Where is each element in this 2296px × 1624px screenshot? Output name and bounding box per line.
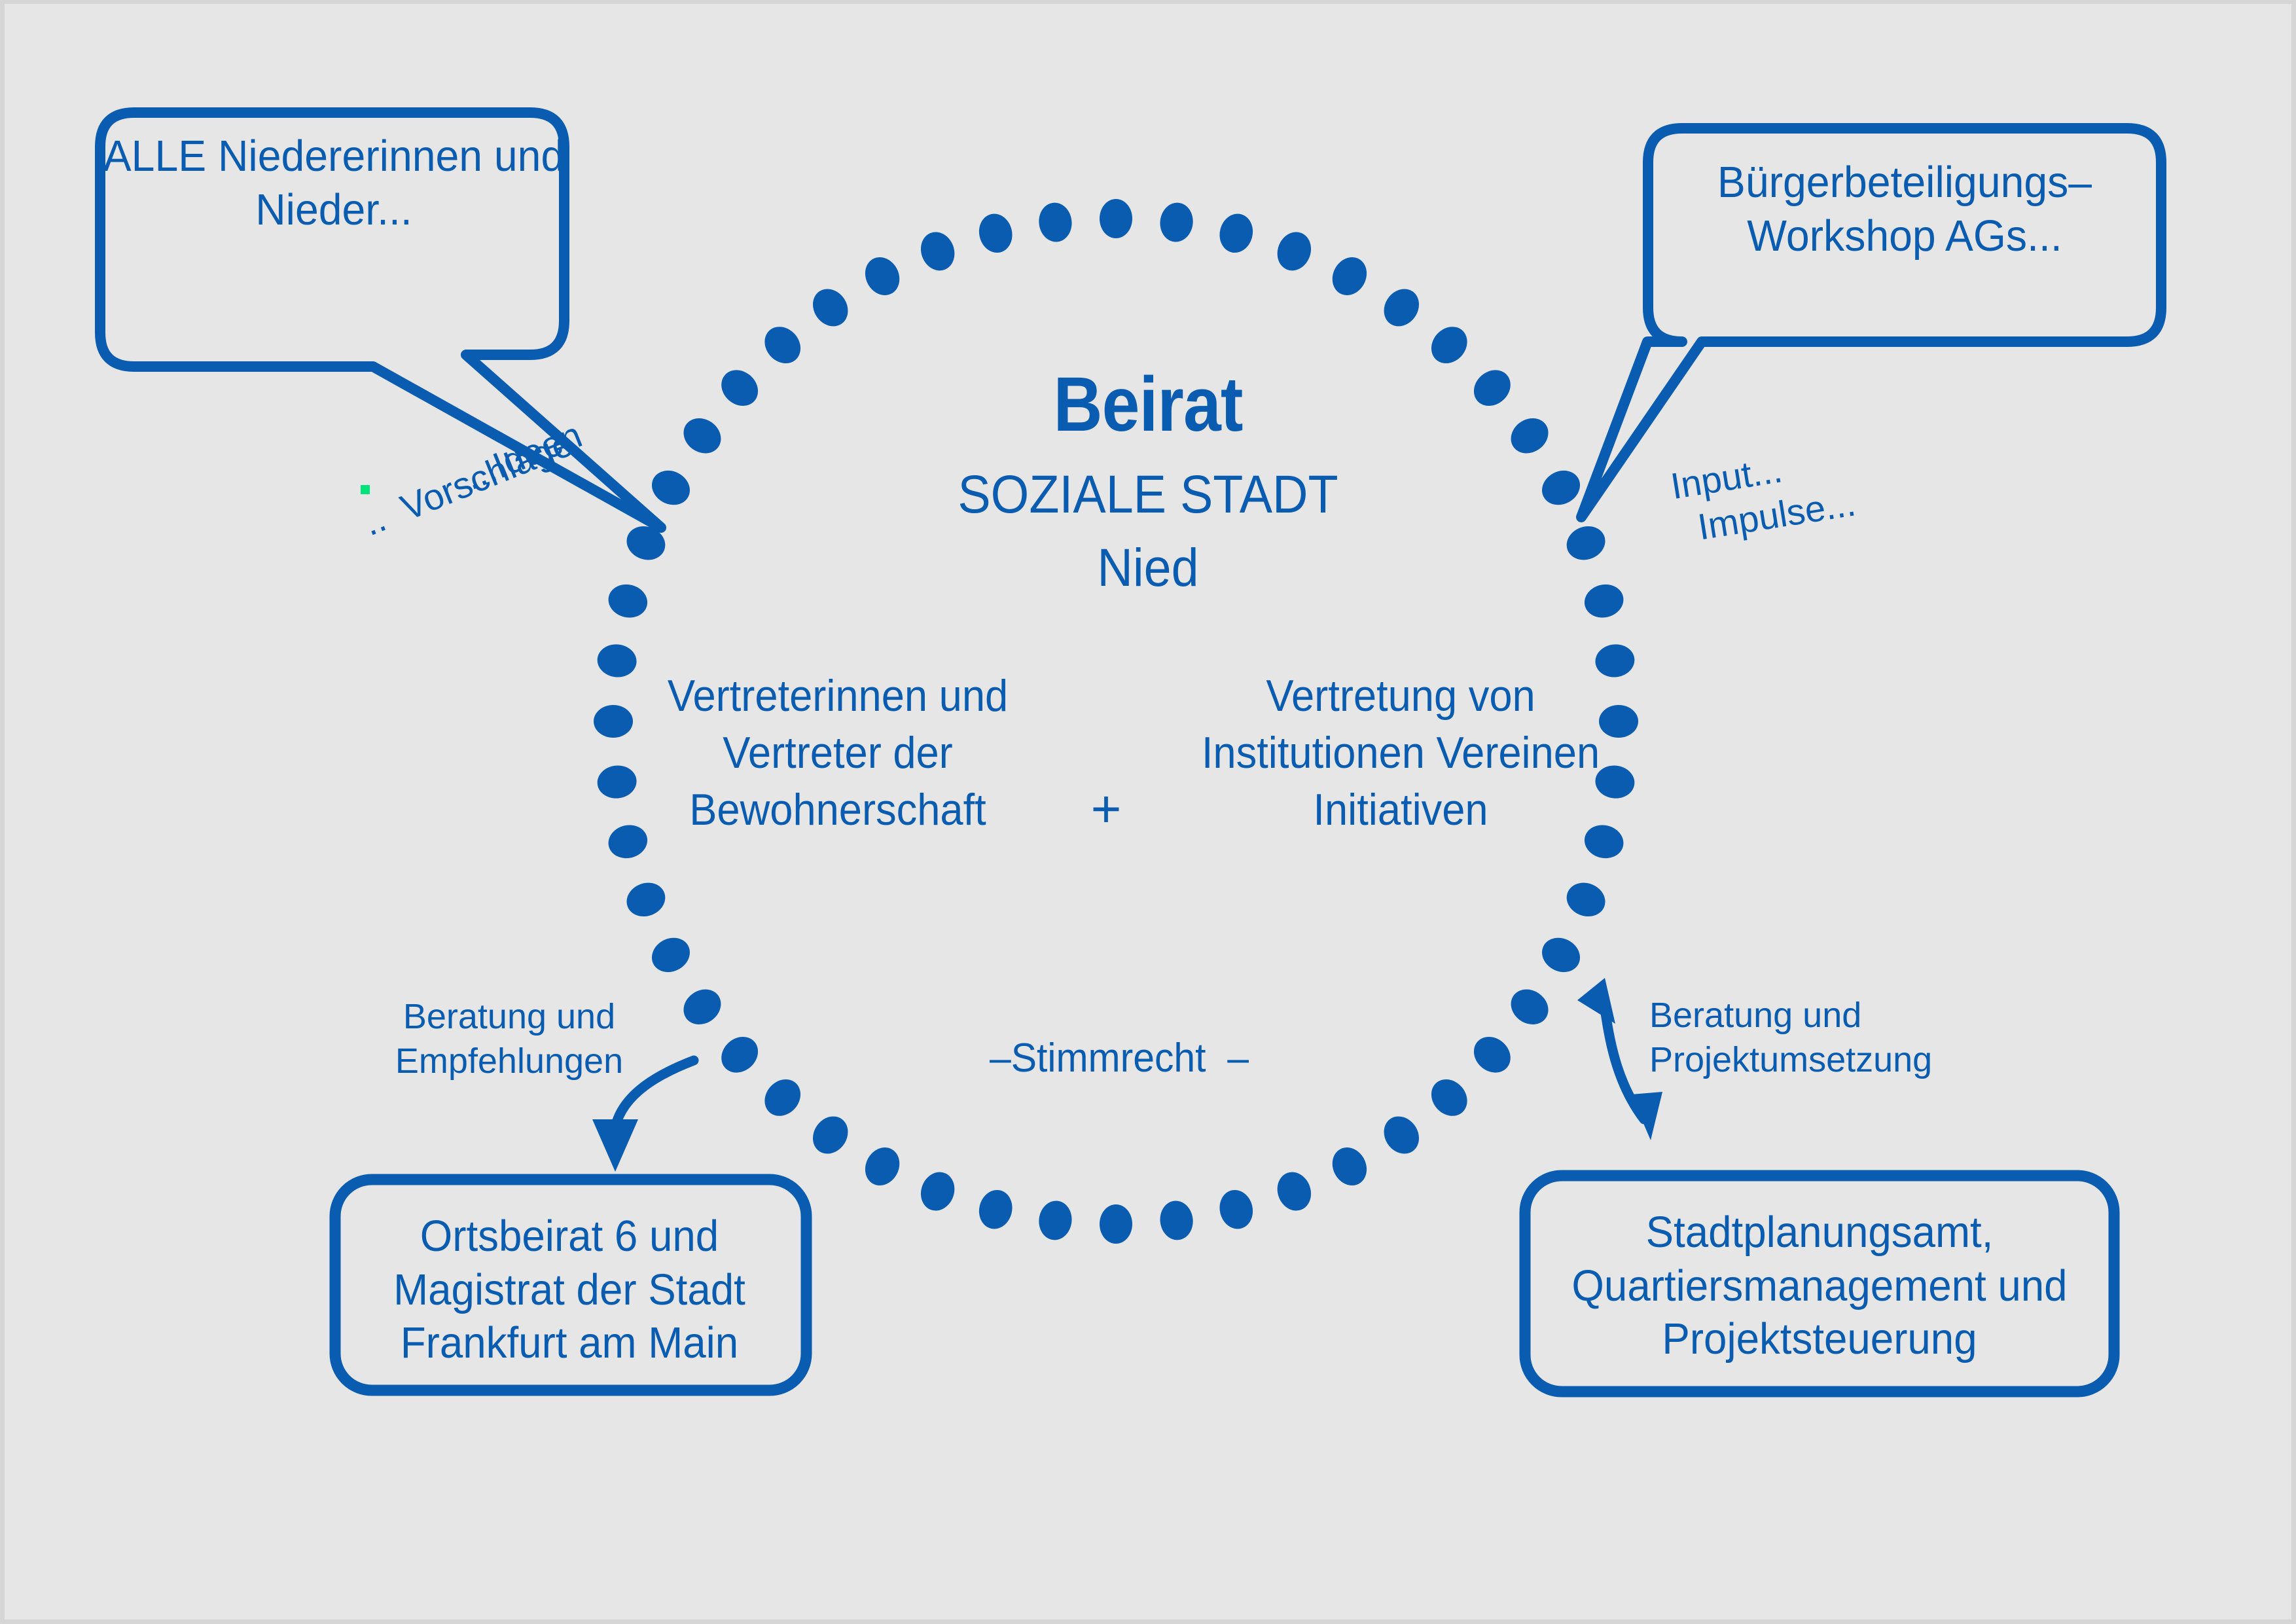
ring-dot xyxy=(1424,1072,1475,1123)
ring-dot xyxy=(1215,210,1257,256)
ring-dot xyxy=(1100,1204,1132,1244)
center-left-column: Vertreterinnen und Vertreter der Bewohne… xyxy=(607,668,1069,839)
ring-dot xyxy=(646,931,696,979)
ring-dot xyxy=(622,877,670,922)
ring-dot xyxy=(714,1030,765,1080)
ring-dot xyxy=(1272,227,1316,276)
ring-dot xyxy=(1377,282,1426,333)
ring-dot xyxy=(806,282,855,333)
ring-dot xyxy=(1562,877,1610,922)
ring-dot xyxy=(1326,251,1373,301)
ring-dot xyxy=(975,1187,1016,1233)
subtitle-line-2: Nied xyxy=(92,538,2204,598)
speech-bubble-top-right-label: Bürgerbeteiligungs– Workshop AGs... xyxy=(1672,156,2137,262)
speech-bubble-top-left-label: ALLE Niedererinnen und Nieder... xyxy=(101,130,566,236)
ring-dot xyxy=(1326,1142,1373,1191)
box-bottom-right-label: Stadtplanungsamt, Quartiersmanagement un… xyxy=(1552,1206,2087,1366)
ring-dot xyxy=(1215,1187,1257,1233)
center-right-column: Vertretung von Institutionen Vereinen In… xyxy=(1188,668,1614,839)
ring-dot xyxy=(916,1167,960,1216)
green-dot-marker xyxy=(361,485,370,494)
ring-dot xyxy=(859,1142,906,1191)
ring-dot xyxy=(677,983,728,1032)
ring-dot xyxy=(916,227,960,276)
ring-dot xyxy=(1158,201,1195,244)
ring-dot xyxy=(1100,199,1132,238)
ring-dot xyxy=(859,251,906,301)
ring-dot xyxy=(1158,1199,1195,1242)
ring-dot xyxy=(806,1110,855,1161)
ring-dot xyxy=(1377,1110,1426,1161)
annotation-beratung-empfehlungen: Beratung und Empfehlungen xyxy=(372,995,647,1083)
ring-dot xyxy=(1272,1167,1316,1216)
annotation-beratung-projektumsetzung: Beratung und Projektumsetzung xyxy=(1649,994,1990,1082)
ring-dot xyxy=(757,1072,808,1123)
ring-dot xyxy=(1037,201,1074,244)
plus-symbol: + xyxy=(1067,779,1145,839)
ring-dot xyxy=(1504,983,1555,1032)
ring-dot xyxy=(1536,931,1586,979)
diagram-canvas: Beirat SOZIALE STADT Nied Vertreterinnen… xyxy=(0,0,2296,1624)
ring-dot xyxy=(1467,1030,1518,1080)
page-title: Beirat xyxy=(137,361,2158,448)
ring-dot xyxy=(975,210,1016,256)
stimmrecht-label: –Stimmrecht – xyxy=(840,1036,1399,1081)
box-bottom-left-label: Ortsbeirat 6 und Magistrat der Stadt Fra… xyxy=(352,1210,787,1370)
ring-dot xyxy=(1037,1199,1074,1242)
